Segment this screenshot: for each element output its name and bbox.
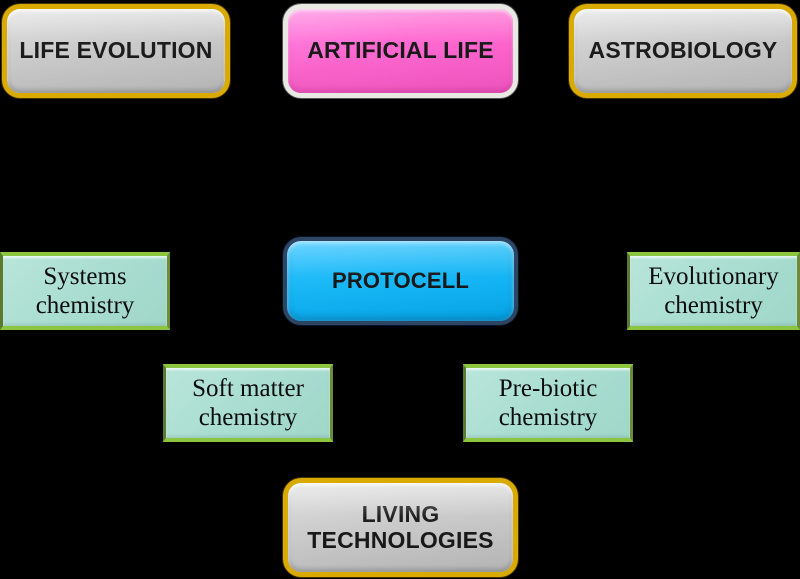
- chip-evolutionary-chemistry-line1: Evolutionary: [648, 263, 779, 290]
- chip-systems-chemistry-label: Systems chemistry: [3, 262, 167, 321]
- node-protocell[interactable]: PROTOCELL: [283, 237, 518, 325]
- chip-systems-chemistry-line1: Systems: [43, 263, 126, 290]
- chip-pre-biotic-chemistry-label: Pre-biotic chemistry: [466, 374, 630, 433]
- node-living-technologies-line2: TECHNOLOGIES: [307, 527, 493, 553]
- chip-pre-biotic-chemistry-line1: Pre-biotic: [499, 375, 598, 402]
- node-astrobiology[interactable]: ASTROBIOLOGY: [569, 4, 797, 98]
- node-astrobiology-label: ASTROBIOLOGY: [574, 38, 792, 64]
- node-living-technologies[interactable]: LIVING TECHNOLOGIES: [283, 478, 518, 577]
- diagram-canvas: LIFE EVOLUTION ARTIFICIAL LIFE ASTROBIOL…: [0, 0, 800, 579]
- chip-evolutionary-chemistry[interactable]: Evolutionary chemistry: [627, 252, 800, 330]
- chip-pre-biotic-chemistry-line2: chemistry: [499, 404, 598, 431]
- chip-systems-chemistry[interactable]: Systems chemistry: [0, 252, 170, 330]
- chip-pre-biotic-chemistry[interactable]: Pre-biotic chemistry: [463, 364, 633, 442]
- node-living-technologies-label: LIVING TECHNOLOGIES: [288, 502, 513, 554]
- chip-soft-matter-chemistry-line2: chemistry: [199, 404, 298, 431]
- node-living-technologies-line1: LIVING: [362, 501, 440, 527]
- chip-soft-matter-chemistry-line1: Soft matter: [192, 375, 304, 402]
- node-artificial-life-label: ARTIFICIAL LIFE: [288, 38, 513, 64]
- chip-soft-matter-chemistry-label: Soft matter chemistry: [166, 374, 330, 433]
- node-artificial-life[interactable]: ARTIFICIAL LIFE: [283, 4, 518, 98]
- chip-soft-matter-chemistry[interactable]: Soft matter chemistry: [163, 364, 333, 442]
- chip-systems-chemistry-line2: chemistry: [36, 292, 135, 319]
- node-life-evolution-label: LIFE EVOLUTION: [7, 38, 225, 64]
- chip-evolutionary-chemistry-line2: chemistry: [664, 292, 763, 319]
- node-life-evolution[interactable]: LIFE EVOLUTION: [2, 4, 230, 98]
- node-protocell-label: PROTOCELL: [287, 269, 514, 294]
- chip-evolutionary-chemistry-label: Evolutionary chemistry: [630, 262, 797, 321]
